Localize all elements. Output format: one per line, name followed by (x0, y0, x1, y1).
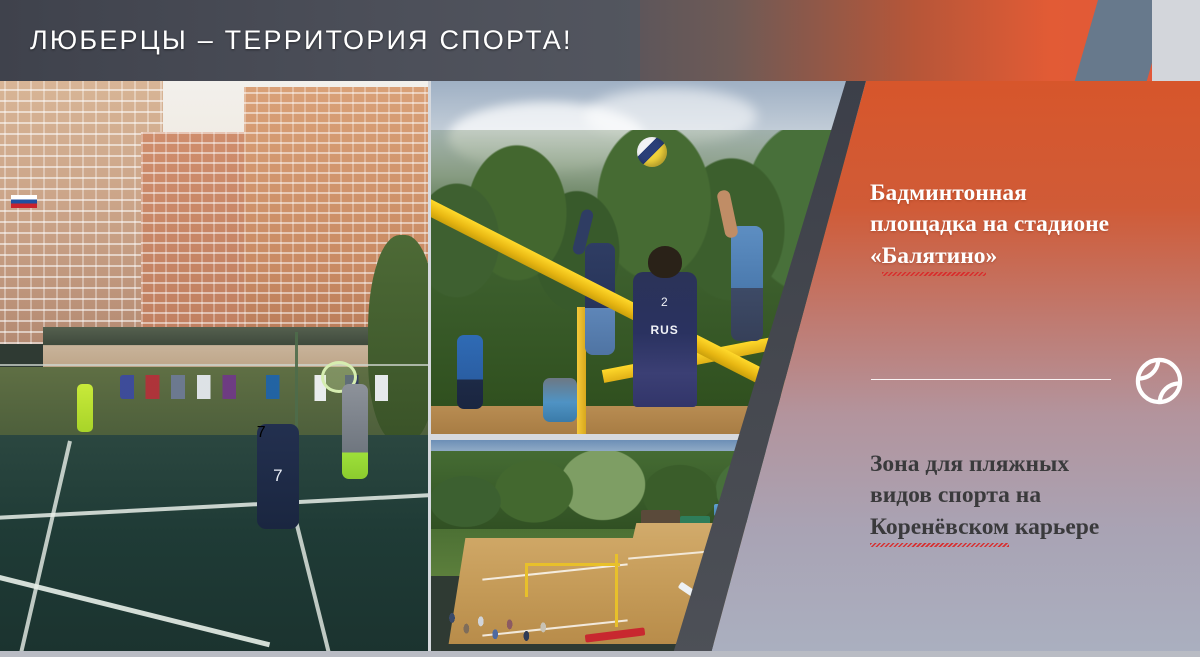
title-bar: ЛЮБЕРЦЫ – ТЕРРИТОРИЯ СПОРТА! (0, 0, 640, 81)
bottom-strip (0, 651, 1200, 657)
caption-badminton-line1: Бадминтонная (870, 180, 1027, 206)
caption-beach-line3-rest: карьере (1009, 514, 1099, 540)
header-gray-edge (1152, 0, 1200, 81)
caption-beach-line1: Зона для пляжных (870, 451, 1069, 477)
caption-beach-line2: видов спорта на (870, 482, 1041, 508)
caption-badminton-stadium-name: Балятино (882, 241, 986, 273)
page-title: ЛЮБЕРЦЫ – ТЕРРИТОРИЯ СПОРТА! (0, 25, 573, 56)
caption-badminton-line2: площадка на стадионе (870, 211, 1109, 237)
panel-content: Бадминтонная площадка на стадионе «Балят… (862, 81, 1200, 657)
caption-badminton-quote-open: « (870, 243, 882, 269)
caption-beach: Зона для пляжных видов спорта на Коренёв… (870, 449, 1190, 544)
slide-canvas: ЛЮБЕРЦЫ – ТЕРРИТОРИЯ СПОРТА! 7 (0, 0, 1200, 657)
tennis-ball-icon (1132, 354, 1186, 408)
caption-badminton: Бадминтонная площадка на стадионе «Балят… (870, 178, 1190, 273)
caption-badminton-quote-close: » (986, 243, 998, 269)
horizontal-rule (871, 379, 1111, 380)
caption-beach-place-name: Коренёвском (870, 512, 1009, 544)
